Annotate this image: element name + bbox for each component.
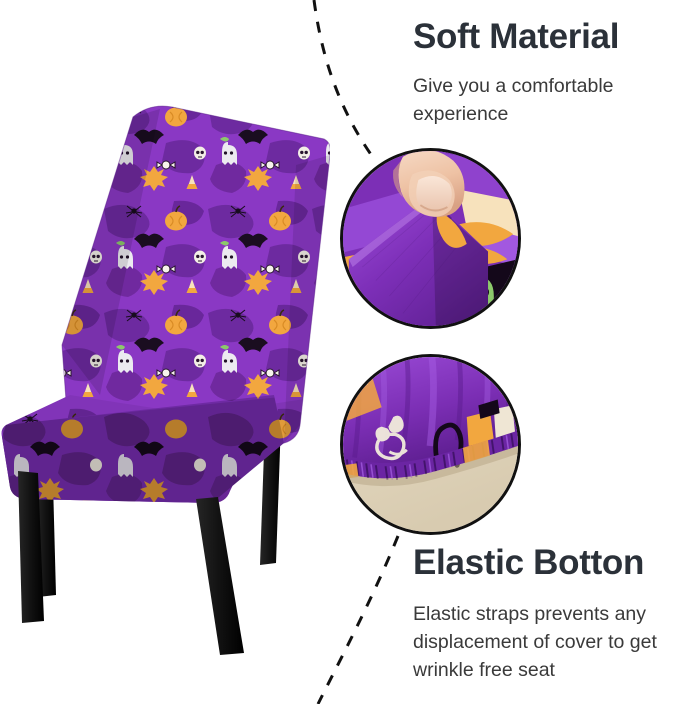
feature-block-elastic-botton: Elastic Botton Elastic straps prevents a… [413, 542, 675, 684]
feature-title: Elastic Botton [413, 542, 675, 584]
feature-description: Elastic straps prevents any displacement… [413, 600, 675, 684]
leader-line-bottom [318, 536, 398, 704]
feature-block-soft-material: Soft Material Give you a comfortable exp… [413, 16, 671, 128]
feature-description: Give you a comfortable experience [413, 72, 671, 128]
fabric-stretch-illustration [343, 151, 518, 326]
dining-chair-with-cover [0, 95, 330, 665]
fabric-stretch-photo [340, 148, 521, 329]
infographic-canvas: Soft Material Give you a comfortable exp… [0, 0, 679, 704]
elastic-hem-photo [340, 354, 521, 535]
elastic-hem-illustration [343, 357, 518, 532]
chair-leg-front-right [196, 497, 244, 655]
feature-title: Soft Material [413, 16, 671, 58]
